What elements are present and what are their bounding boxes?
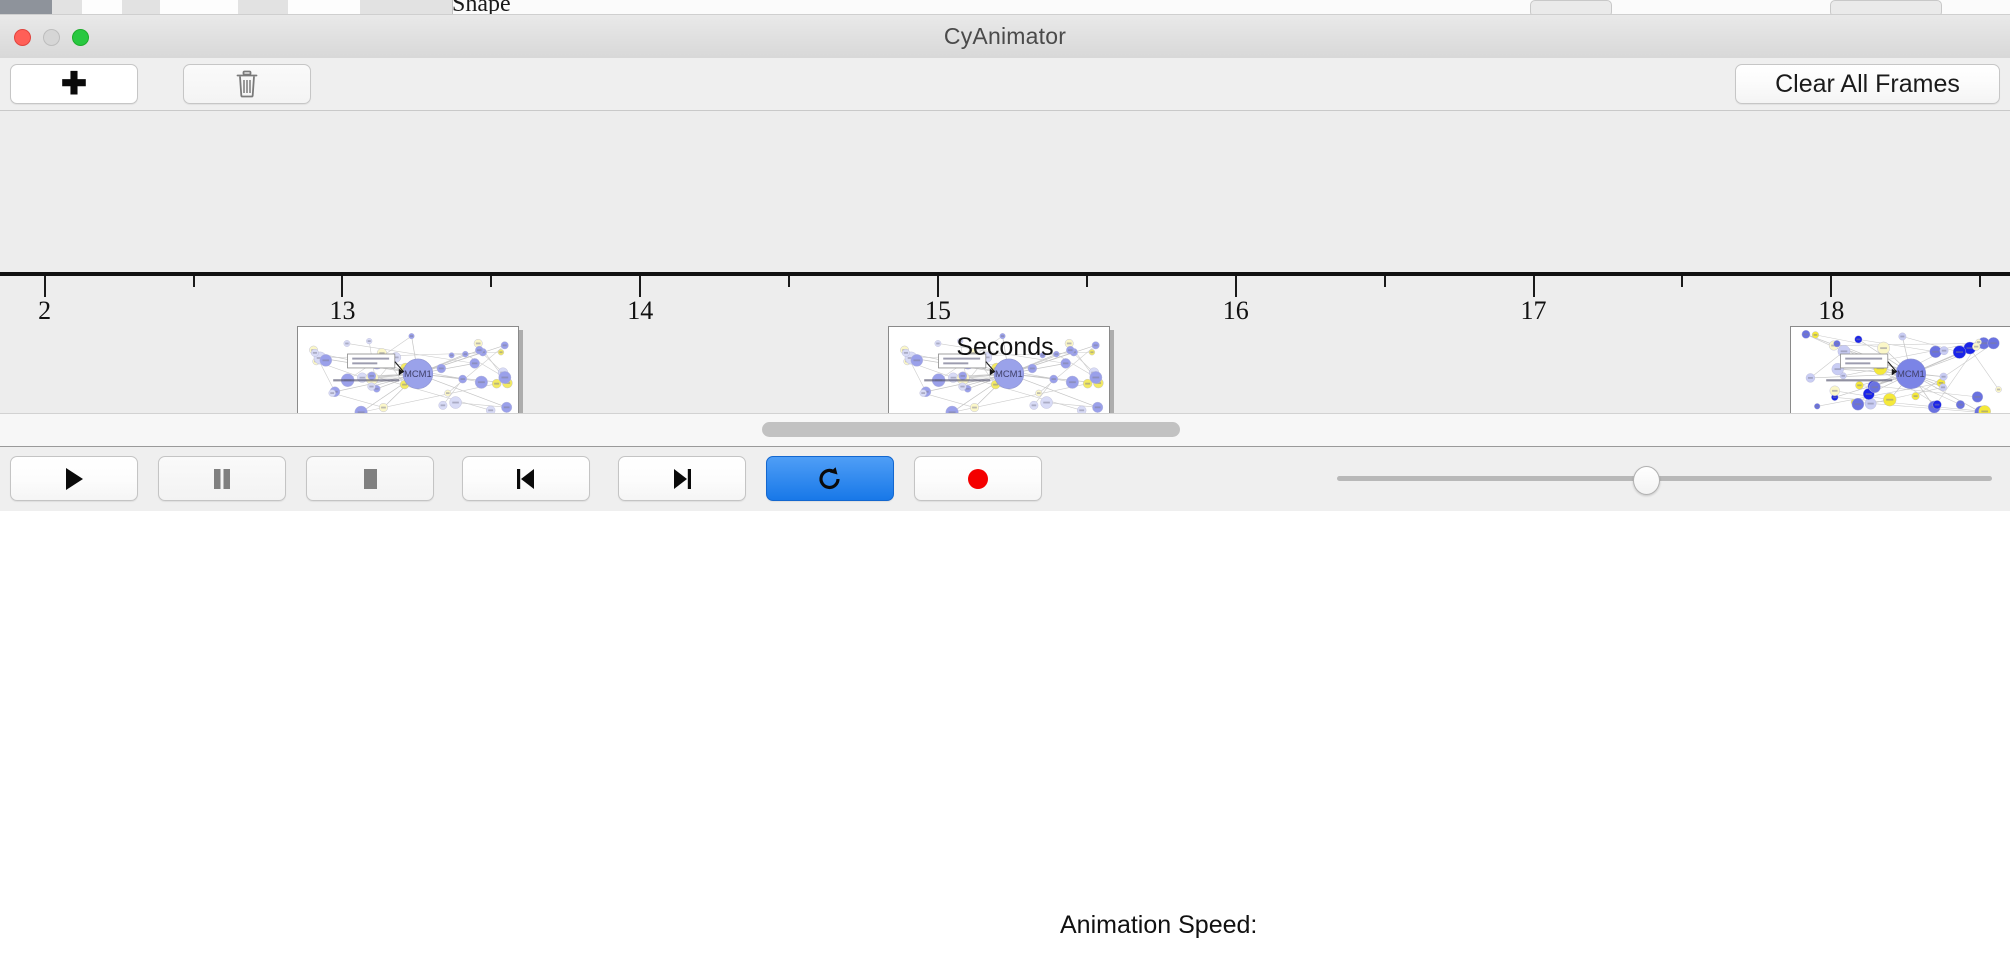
svg-text:MCM1: MCM1 (1897, 369, 1925, 380)
axis-tick-label: 14 (627, 296, 653, 326)
skip-end-icon (669, 466, 695, 492)
background-partial-label: Shape (452, 0, 511, 15)
plus-icon: ✚ (61, 68, 87, 99)
axis-title: Seconds (0, 333, 2010, 362)
axis-tick-major (1235, 276, 1237, 297)
cyanimator-window: Shape CyAnimator ✚ Cle (0, 0, 2010, 510)
axis-tick-label: 18 (1818, 296, 1844, 326)
axis-tick-major (341, 276, 343, 297)
axis-tick-major (1533, 276, 1535, 297)
pause-icon (210, 466, 234, 492)
timeline-panel[interactable]: MCM1MCM1MCM1 2131415161718 Seconds (0, 111, 2010, 413)
skip-start-icon (513, 466, 539, 492)
slider-track[interactable] (1337, 476, 1992, 481)
play-button[interactable] (10, 456, 138, 501)
axis-tick-label: 15 (925, 296, 951, 326)
bg-chip (1830, 0, 1942, 15)
play-icon (62, 466, 86, 492)
delete-frame-button[interactable] (183, 64, 311, 104)
axis-tick-minor (1979, 276, 1981, 287)
scrollbar-thumb[interactable] (762, 422, 1180, 437)
svg-text:MCM1: MCM1 (995, 369, 1023, 380)
add-frame-button[interactable]: ✚ (10, 64, 138, 104)
axis-tick-minor (1384, 276, 1386, 287)
axis-tick-major (44, 276, 46, 297)
pause-button[interactable] (158, 456, 286, 501)
bg-chip (52, 0, 83, 15)
timeline-axis (0, 272, 2010, 276)
bg-chip (238, 0, 289, 15)
record-button[interactable] (914, 456, 1042, 501)
clear-all-frames-label: Clear All Frames (1775, 70, 1960, 99)
bg-chip (82, 0, 123, 15)
window-title: CyAnimator (0, 15, 2010, 58)
slider-thumb[interactable] (1633, 466, 1660, 495)
loop-icon (817, 466, 843, 492)
stop-icon (358, 466, 382, 492)
bg-chip (160, 0, 239, 15)
svg-text:MCM1: MCM1 (404, 369, 432, 380)
axis-tick-label: 13 (329, 296, 355, 326)
record-icon (965, 466, 991, 492)
bg-chip (122, 0, 161, 15)
axis-tick-major (639, 276, 641, 297)
axis-tick-major (1830, 276, 1832, 297)
axis-tick-minor (193, 276, 195, 287)
animation-speed-slider[interactable] (1337, 446, 1992, 510)
bg-chip (288, 0, 361, 15)
skip-end-button[interactable] (618, 456, 746, 501)
bg-chip (1530, 0, 1612, 15)
trash-icon (235, 70, 259, 98)
frame-toolbar: ✚ Clear All Frames (0, 58, 2010, 111)
animation-speed-label: Animation Speed: (1060, 893, 1257, 957)
axis-tick-minor (1086, 276, 1088, 287)
axis-tick-label: 2 (38, 296, 51, 326)
axis-tick-label: 16 (1223, 296, 1249, 326)
bg-chip (360, 0, 453, 15)
window-titlebar: CyAnimator (0, 15, 2010, 59)
stop-button[interactable] (306, 456, 434, 501)
bg-chip (0, 0, 53, 15)
clear-all-frames-button[interactable]: Clear All Frames (1735, 64, 2000, 104)
loop-button[interactable] (766, 456, 894, 501)
axis-tick-label: 17 (1521, 296, 1547, 326)
axis-tick-minor (788, 276, 790, 287)
axis-tick-minor (490, 276, 492, 287)
timeline-scrollbar[interactable] (0, 413, 2010, 447)
background-window-strip: Shape (0, 0, 2010, 15)
axis-tick-major (937, 276, 939, 297)
axis-tick-minor (1681, 276, 1683, 287)
skip-start-button[interactable] (462, 456, 590, 501)
